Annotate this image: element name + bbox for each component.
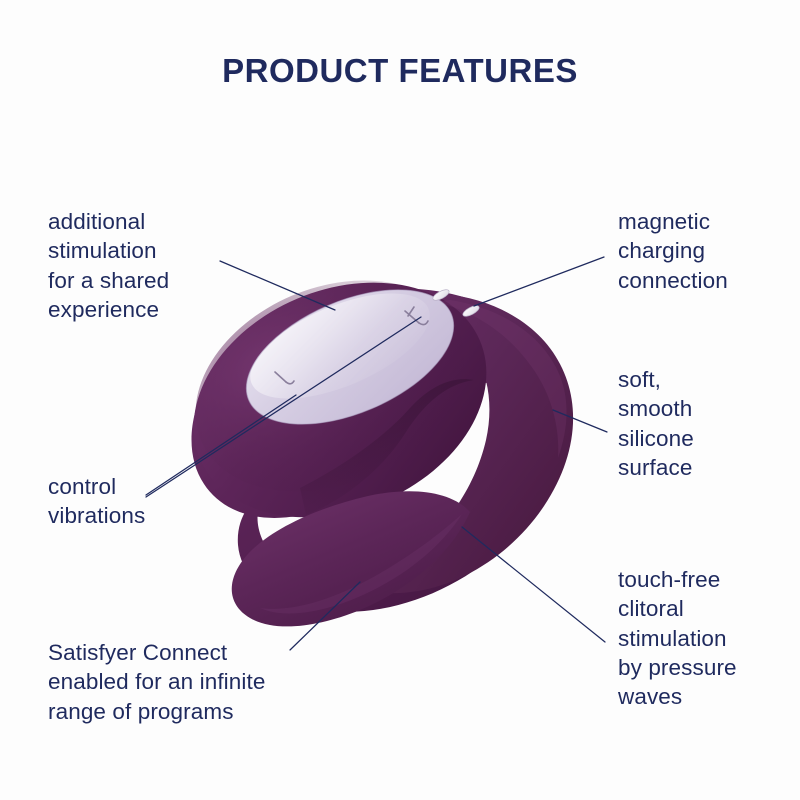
callout-magnetic-charging: magnetic charging connection	[618, 207, 793, 295]
callout-soft-silicone: soft, smooth silicone surface	[618, 365, 788, 482]
callout-satisfyer-connect: Satisfyer Connect enabled for an infinit…	[48, 638, 348, 726]
callout-control-vibrations: control vibrations	[48, 472, 248, 531]
leader-line-magnetic-charging	[474, 257, 604, 306]
product-features-infographic: PRODUCT FEATURES	[0, 0, 800, 800]
callout-touch-free: touch-free clitoral stimulation by press…	[618, 565, 793, 711]
callout-additional-stimulation: additional stimulation for a shared expe…	[48, 207, 258, 324]
leader-line-touch-free	[462, 527, 605, 642]
